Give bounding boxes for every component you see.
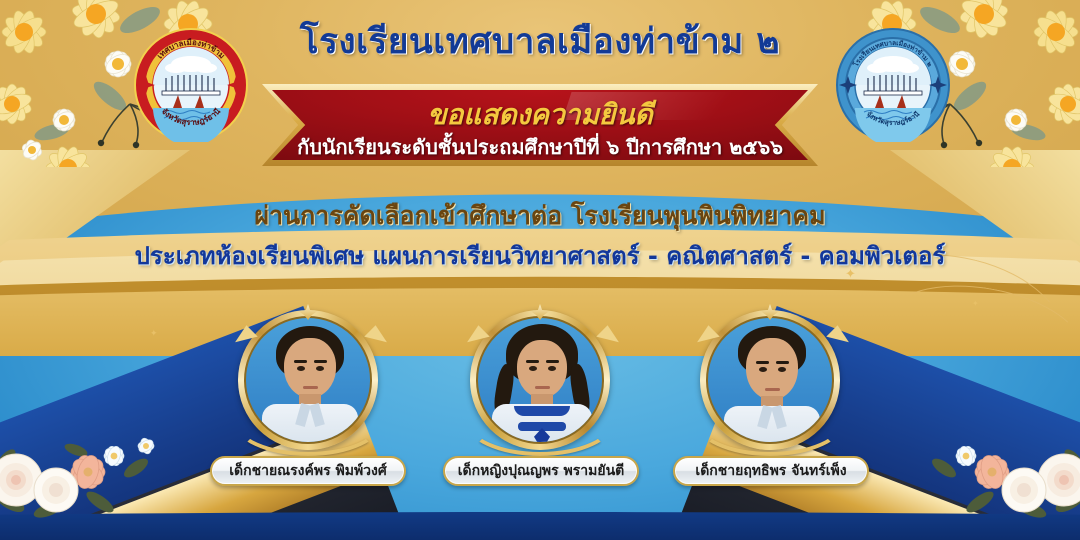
portrait-frame: [238, 310, 378, 450]
portrait-photo: [706, 316, 834, 444]
portrait-frame: [470, 310, 610, 450]
sparkle-star: ✦: [150, 330, 158, 339]
achievement-line-1: ผ่านการคัดเลือกเข้าศึกษาต่อ โรงเรียนพุนพ…: [0, 196, 1080, 236]
student-nameplate: เด็กหญิงปุณญพร พรามยันตี: [443, 456, 639, 486]
portrait-photo: [244, 316, 372, 444]
ribbon-subject-text: กับนักเรียนระดับชั้นประถมศึกษาปีที่ ๖ ปี…: [262, 131, 818, 163]
portrait-frame: [700, 310, 840, 450]
student-nameplate: เด็กชายณรงค์พร พิมพ์วงศ์: [210, 456, 406, 486]
congratulations-banner: ✦ ✦ ✦ ✦: [0, 0, 1080, 540]
page-title: โรงเรียนเทศบาลเมืองท่าข้าม ๒: [0, 14, 1080, 69]
portrait-photo: [476, 316, 604, 444]
student-nameplate: เด็กชายฤทธิพร จันทร์เพ็ง: [673, 456, 869, 486]
achievement-line-2: ประเภทห้องเรียนพิเศษ แผนการเรียนวิทยาศาส…: [0, 236, 1080, 275]
congratulations-ribbon: ขอแสดงความยินดี กับนักเรียนระดับชั้นประถ…: [262, 84, 818, 166]
